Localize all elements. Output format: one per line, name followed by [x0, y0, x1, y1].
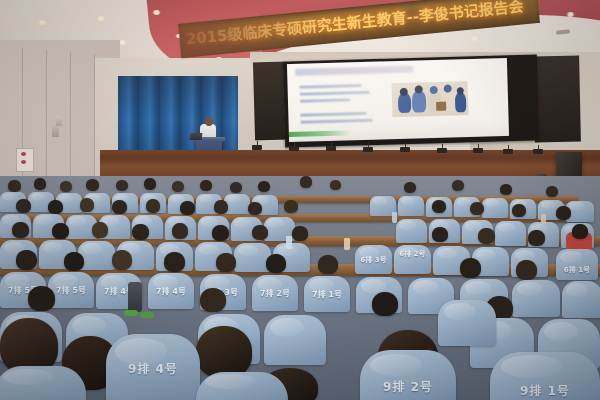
audience-head	[48, 200, 63, 214]
downlight-icon	[470, 36, 479, 41]
auditorium-seat	[0, 366, 86, 400]
audience-head	[248, 202, 262, 215]
auditorium-seat: 9排 4号	[106, 334, 200, 400]
auditorium-seat	[482, 198, 508, 218]
audience-head	[212, 225, 229, 241]
audience-head	[80, 198, 94, 212]
auditorium-seat: 7排 1号	[304, 276, 350, 312]
audience-head	[500, 184, 512, 195]
microphone-icon	[437, 148, 447, 153]
auditorium-seat: 6排 2号	[394, 245, 431, 274]
audience-head	[146, 199, 160, 213]
audience-head	[292, 226, 308, 241]
audience-head	[478, 228, 495, 244]
water-bottle	[344, 238, 350, 250]
standing-person	[128, 282, 142, 312]
audience-head	[52, 223, 69, 239]
audience-head	[214, 200, 228, 214]
auditorium-seat	[396, 219, 427, 243]
water-bottle	[286, 236, 292, 249]
seat-label: 9排 2号	[360, 378, 456, 395]
audience-head	[116, 180, 128, 191]
audience-head	[432, 200, 446, 213]
wall-sign-mark	[21, 152, 26, 156]
auditorium-seat	[512, 280, 560, 317]
audience-head	[460, 258, 481, 278]
audience-head	[300, 176, 312, 188]
audience-head	[86, 179, 99, 191]
auditorium-seat	[495, 221, 526, 246]
audience-head	[284, 200, 298, 213]
audience-head	[216, 253, 236, 272]
audience-head	[230, 182, 242, 193]
downlight-icon	[152, 10, 161, 15]
wall-sign-mark	[21, 160, 26, 164]
audience-head	[546, 186, 558, 197]
microphone-icon	[326, 146, 336, 151]
seat-label: 7排 5号	[48, 285, 94, 296]
seat-label: 7排 4号	[148, 286, 194, 297]
auditorium-seat: 6排 3号	[355, 245, 392, 274]
screen-glare	[287, 58, 509, 142]
wall-fixture	[56, 116, 62, 126]
auditorium-seat	[224, 194, 250, 214]
seat-label: 7排 1号	[304, 289, 350, 300]
shoe	[124, 310, 138, 316]
auditorium-seat	[234, 243, 271, 272]
presenter-head	[205, 117, 213, 126]
audience-head	[200, 288, 226, 312]
auditorium-seat	[398, 196, 424, 216]
audience-head	[318, 255, 338, 274]
audience-head	[252, 225, 268, 240]
audience-head	[172, 181, 184, 192]
audience-head	[372, 292, 398, 316]
audience-head	[112, 200, 127, 214]
audience-head	[64, 252, 84, 271]
audience-head	[528, 230, 545, 246]
audience-head	[132, 224, 149, 240]
audience-head	[258, 181, 270, 192]
water-bottle	[392, 212, 397, 223]
audience-head	[196, 326, 252, 378]
audience-head	[556, 206, 571, 220]
shoe	[140, 312, 154, 318]
audience-head	[470, 202, 484, 215]
auditorium-seat: 7排 5号	[48, 272, 94, 308]
downlight-icon	[566, 12, 575, 17]
audience-head	[164, 252, 185, 272]
auditorium-seat	[562, 281, 600, 318]
audience-head	[92, 222, 108, 238]
laptop	[190, 133, 203, 140]
auditorium-seat: 9排 2号	[360, 350, 456, 400]
audience-head	[12, 222, 29, 238]
microphone-icon	[252, 145, 262, 150]
microphone-icon	[400, 147, 410, 152]
audience-head	[144, 178, 156, 190]
auditorium-seat	[264, 315, 326, 365]
audience-head	[432, 227, 448, 242]
audience-head	[452, 180, 464, 191]
audience-head	[516, 260, 537, 280]
audience-head	[200, 180, 212, 191]
auditorium-seat	[78, 241, 115, 270]
microphone-icon	[289, 146, 299, 151]
downlight-icon	[38, 20, 47, 25]
microphone-icon	[363, 147, 373, 152]
audience-head	[34, 178, 46, 190]
auditorium-seat: 7排 2号	[252, 275, 298, 311]
audience-head	[16, 199, 31, 213]
audience-head	[28, 286, 55, 311]
seat-label: 6排 2号	[394, 249, 431, 259]
audience-head	[112, 250, 132, 270]
audience-head	[8, 180, 21, 192]
audience-head	[172, 223, 188, 239]
audience-head	[16, 250, 37, 270]
seat-label: 6排 1号	[556, 265, 598, 275]
microphone-icon	[503, 149, 513, 154]
acoustic-panel	[533, 56, 581, 143]
audience-head	[404, 182, 416, 193]
audience-head	[330, 180, 341, 190]
auditorium-seat	[196, 372, 288, 400]
audience-head	[266, 254, 286, 273]
auditorium-seat: 6排 1号	[556, 249, 598, 280]
audience-head	[572, 224, 588, 239]
audience-head	[180, 201, 195, 215]
audience-head	[512, 204, 526, 217]
seat-label: 7排 2号	[252, 288, 298, 299]
auditorium-seat: 9排 1号	[490, 352, 600, 400]
downlight-icon	[96, 16, 106, 21]
auditorium-seat: 7排 4号	[148, 273, 194, 309]
seat-label: 9排 4号	[106, 360, 200, 377]
water-bottle	[541, 214, 546, 224]
microphone-icon	[533, 149, 543, 154]
seat-label: 9排 1号	[490, 382, 600, 399]
auditorium-photo: 2015级临床专硕研究生新生教育--李俊书记报告会	[0, 0, 600, 400]
audience-head	[60, 181, 72, 192]
acoustic-panel	[253, 62, 285, 141]
microphone-icon	[473, 148, 483, 153]
seat-label: 6排 3号	[355, 255, 392, 265]
auditorium-seat	[438, 300, 496, 346]
